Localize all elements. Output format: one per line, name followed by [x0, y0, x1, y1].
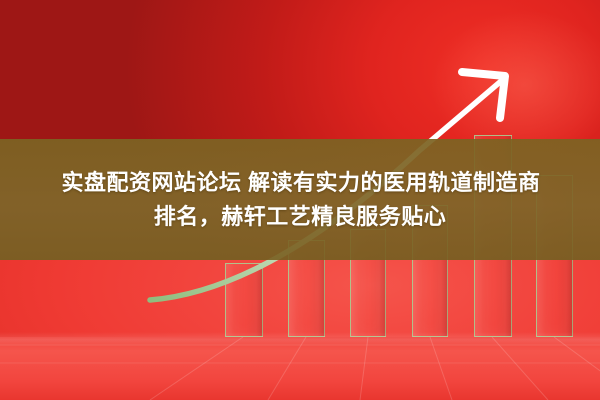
- caption-line-2: 排名，赫轩工艺精良服务贴心: [154, 202, 447, 232]
- banner-image: 实盘配资网站论坛 解读有实力的医用轨道制造商 排名，赫轩工艺精良服务贴心: [0, 0, 600, 400]
- chart-bar-1: [225, 263, 263, 337]
- floor-plane: [0, 337, 600, 400]
- caption-text-block: 实盘配资网站论坛 解读有实力的医用轨道制造商 排名，赫轩工艺精良服务贴心: [0, 139, 600, 260]
- caption-line-1: 实盘配资网站论坛 解读有实力的医用轨道制造商: [59, 168, 540, 198]
- floor-highlight: [0, 332, 600, 346]
- floor-perspective-lines: [0, 337, 600, 400]
